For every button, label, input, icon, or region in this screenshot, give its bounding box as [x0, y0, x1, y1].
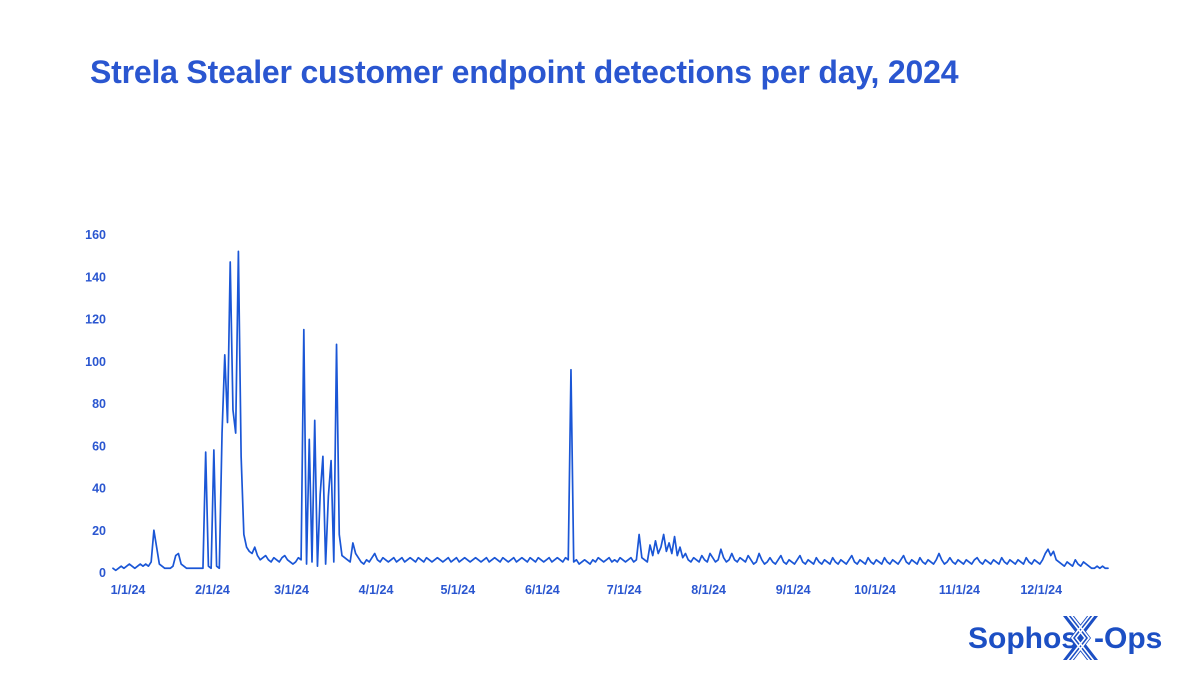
- y-tick-label: 0: [99, 566, 106, 580]
- y-axis: 020406080100120140160: [85, 228, 106, 580]
- logo-text-sophos: Sophos: [968, 622, 1078, 655]
- x-tick-label: 10/1/24: [854, 583, 896, 597]
- line-chart: 020406080100120140160 1/1/242/1/243/1/24…: [0, 0, 1200, 675]
- x-tick-label: 1/1/24: [111, 583, 146, 597]
- y-tick-label: 100: [85, 355, 106, 369]
- y-tick-label: 60: [92, 439, 106, 453]
- y-tick-label: 80: [92, 397, 106, 411]
- x-tick-label: 8/1/24: [691, 583, 726, 597]
- logo-text-xops: -Ops: [1094, 622, 1162, 655]
- y-tick-label: 20: [92, 524, 106, 538]
- x-tick-label: 2/1/24: [195, 583, 230, 597]
- x-tick-label: 6/1/24: [525, 583, 560, 597]
- sophos-x-ops-logo: Sophos -Ops: [968, 612, 1168, 664]
- series-line-strela-detections: [113, 251, 1108, 570]
- x-tick-label: 11/1/24: [939, 583, 980, 597]
- x-tick-label: 7/1/24: [607, 583, 642, 597]
- x-tick-label: 9/1/24: [776, 583, 811, 597]
- chart-container: 020406080100120140160 1/1/242/1/243/1/24…: [0, 0, 1200, 675]
- y-tick-label: 40: [92, 482, 106, 496]
- x-axis: 1/1/242/1/243/1/244/1/245/1/246/1/247/1/…: [111, 583, 1062, 597]
- y-tick-label: 140: [85, 270, 106, 284]
- x-tick-label: 5/1/24: [440, 583, 475, 597]
- y-tick-label: 120: [85, 313, 106, 327]
- y-tick-label: 160: [85, 228, 106, 242]
- x-tick-label: 4/1/24: [359, 583, 394, 597]
- logo-svg: Sophos -Ops: [968, 612, 1168, 664]
- x-tick-label: 12/1/24: [1020, 583, 1062, 597]
- x-tick-label: 3/1/24: [274, 583, 309, 597]
